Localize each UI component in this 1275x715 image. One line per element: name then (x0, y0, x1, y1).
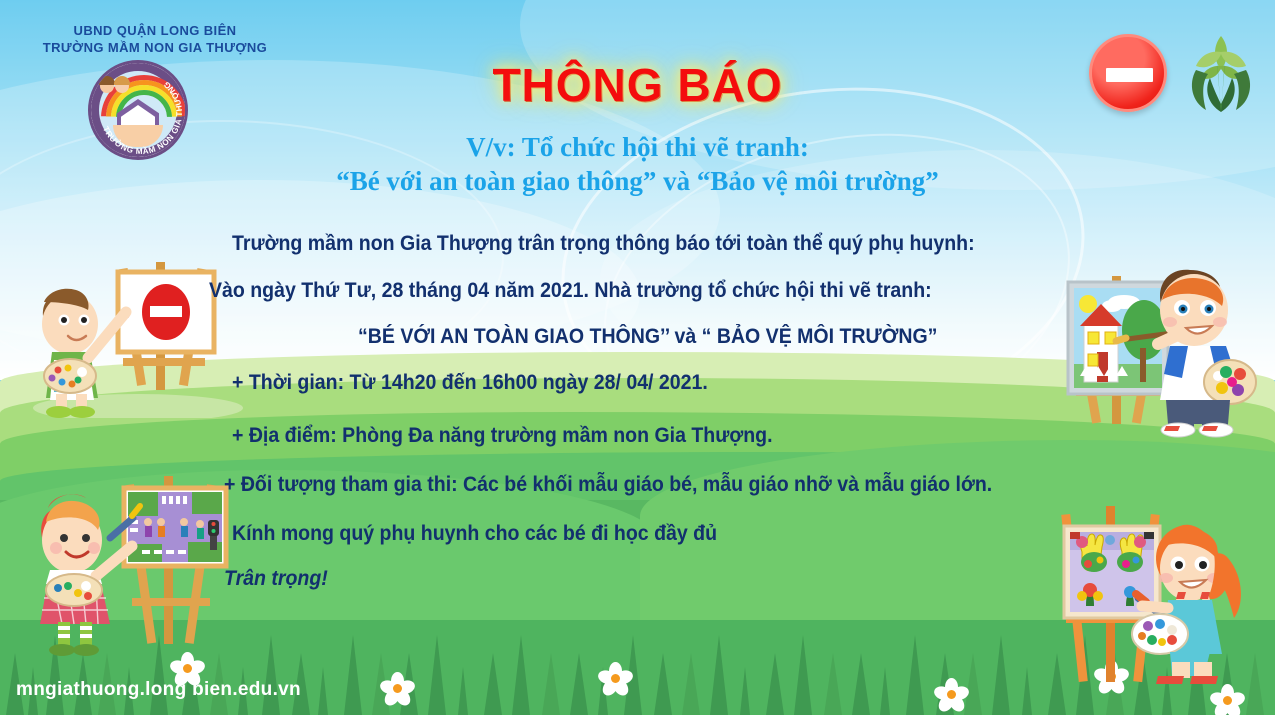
notice-line-6: + Đối tượng tham gia thi: Các bé khối mẫ… (224, 473, 992, 497)
girl-painting-street-scene (28, 458, 243, 658)
subtitle-line-1: V/v: Tổ chức hội thi vẽ tranh: (0, 132, 1275, 163)
notice-line-2: Vào ngày Thứ Tư, 28 tháng 04 năm 2021. N… (209, 279, 932, 303)
flower-icon (600, 662, 630, 692)
page-title: THÔNG BÁO (0, 58, 1275, 112)
subtitle-line-2: “Bé với an toàn giao thông” và “Bảo vệ m… (0, 166, 1275, 197)
notice-line-4: + Thời gian: Từ 14h20 đến 16h00 ngày 28/… (232, 371, 708, 395)
flower-icon (936, 678, 966, 708)
boy-painting-house (1040, 248, 1260, 438)
org-line-2: TRƯỜNG MẦM NON GIA THƯỢNG (30, 39, 280, 56)
notice-line-1: Trường mầm non Gia Thượng trân trọng thô… (232, 232, 975, 256)
notice-line-3: “BÉ VỚI AN TOÀN GIAO THÔNG’’ và “ BẢO VỆ… (358, 325, 937, 349)
organization-header: UBND QUẬN LONG BIÊN TRƯỜNG MẦM NON GIA T… (30, 22, 280, 56)
notice-poster: UBND QUẬN LONG BIÊN TRƯỜNG MẦM NON GIA T… (0, 0, 1275, 715)
notice-line-5: + Địa điểm: Phòng Đa năng trường mầm non… (232, 424, 773, 448)
girl-painting-handprint-art (1030, 490, 1260, 690)
notice-line-8: Trân trọng! (224, 567, 328, 591)
flower-icon (382, 672, 412, 702)
notice-line-7: Kính mong quý phụ huynh cho các bé đi họ… (232, 522, 717, 546)
boy-painting-no-entry-sign (28, 248, 248, 418)
website-footer: mngiathuong.long bien.edu.vn (16, 679, 301, 701)
org-line-1: UBND QUẬN LONG BIÊN (30, 22, 280, 39)
